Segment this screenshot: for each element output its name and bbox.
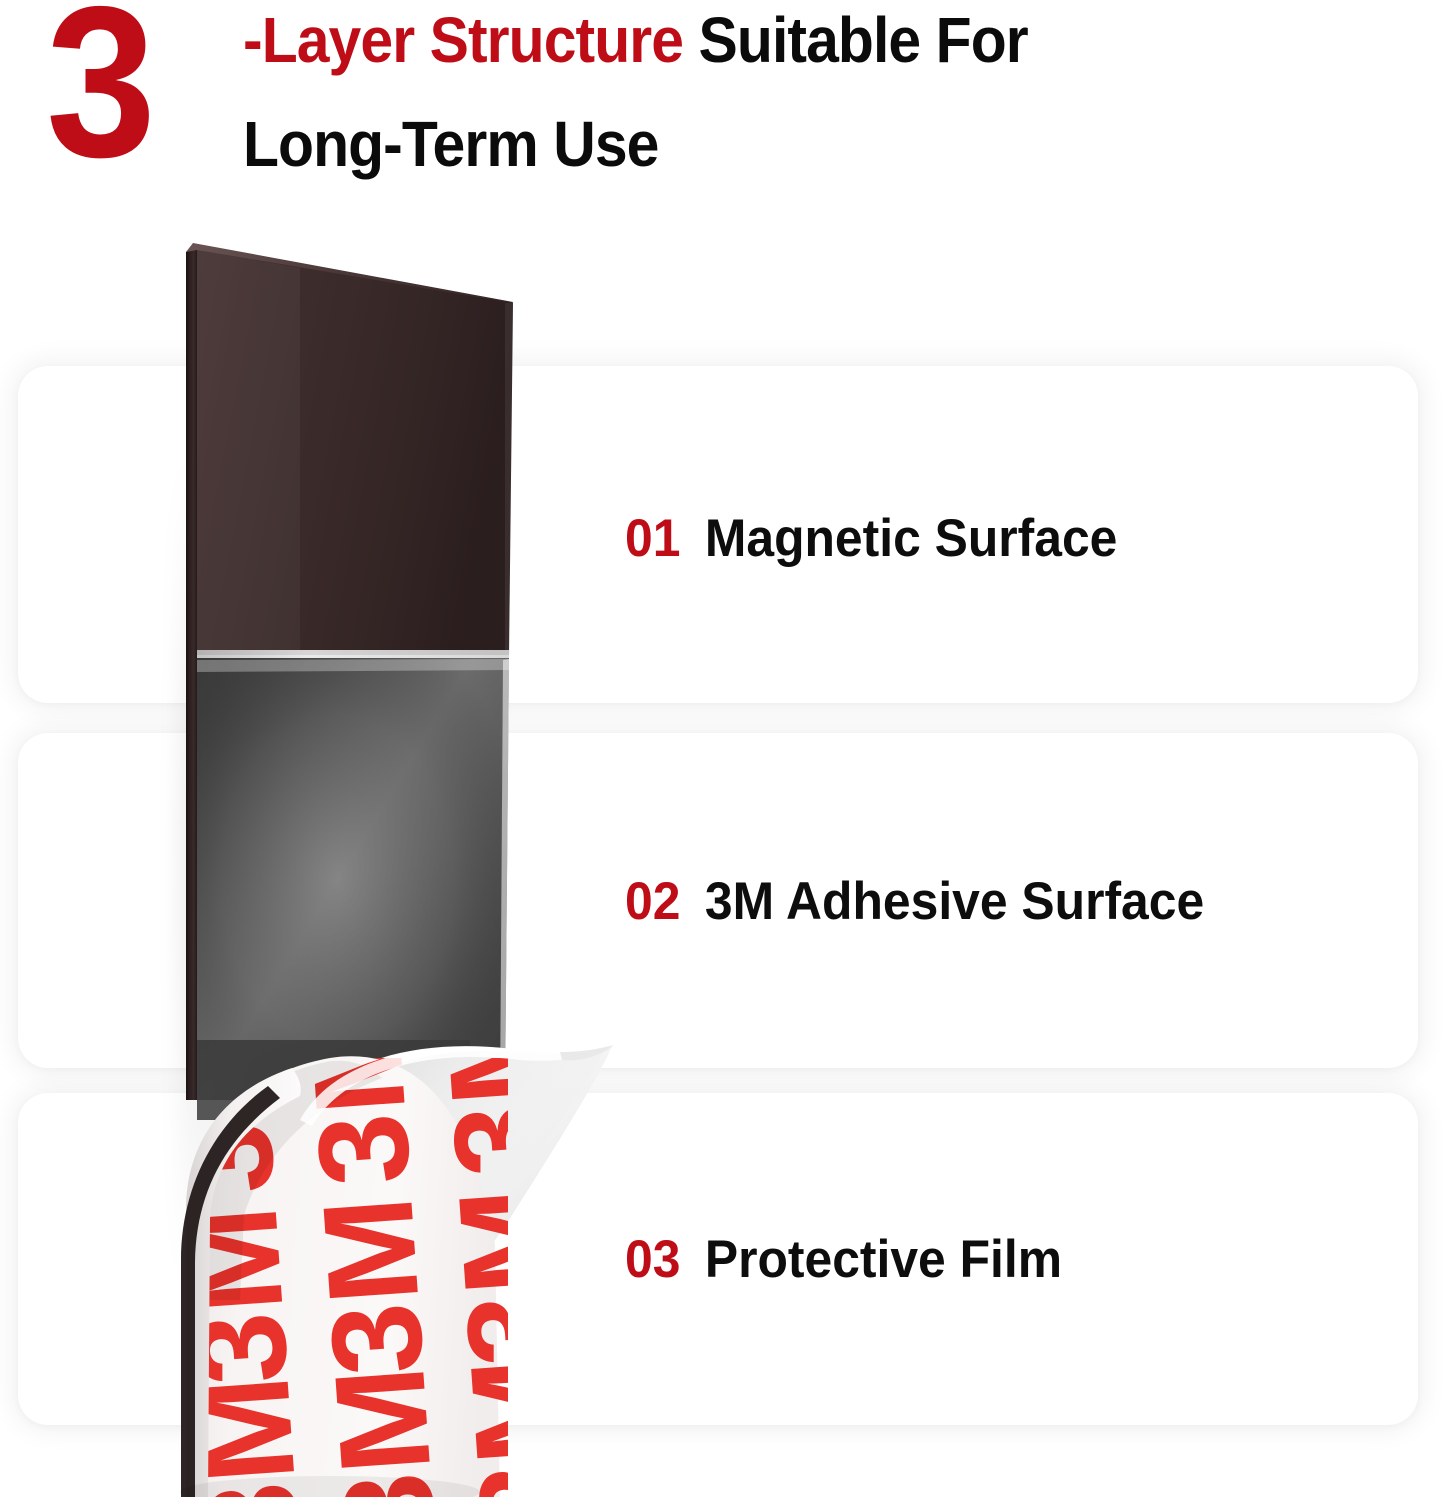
feature-label-3: Protective Film xyxy=(705,1230,1062,1289)
feature-text-2: 023M Adhesive Surface xyxy=(625,875,1204,928)
feature-text-1: 01Magnetic Surface xyxy=(625,512,1117,565)
heading-line-1-black: Suitable For xyxy=(683,4,1028,76)
feature-number-3: 03 xyxy=(625,1230,680,1289)
feature-text-3: 03Protective Film xyxy=(625,1233,1062,1286)
product-drop-shadow xyxy=(178,250,518,1497)
heading-line-2-black: Long-Term Use xyxy=(243,108,658,180)
feature-label-2: 3M Adhesive Surface xyxy=(705,872,1204,931)
heading-line-1-red: -Layer Structure xyxy=(243,4,683,76)
infographic-page: 3 -Layer Structure Suitable For Long-Ter… xyxy=(0,0,1445,1497)
feature-number-2: 02 xyxy=(625,872,680,931)
page-heading: 3 -Layer Structure Suitable For Long-Ter… xyxy=(0,0,1445,205)
heading-line-2: Long-Term Use xyxy=(243,112,658,176)
heading-big-number: 3 xyxy=(46,0,152,189)
feature-number-1: 01 xyxy=(625,509,680,568)
feature-label-1: Magnetic Surface xyxy=(705,509,1118,568)
heading-line-1: -Layer Structure Suitable For xyxy=(243,8,1028,72)
